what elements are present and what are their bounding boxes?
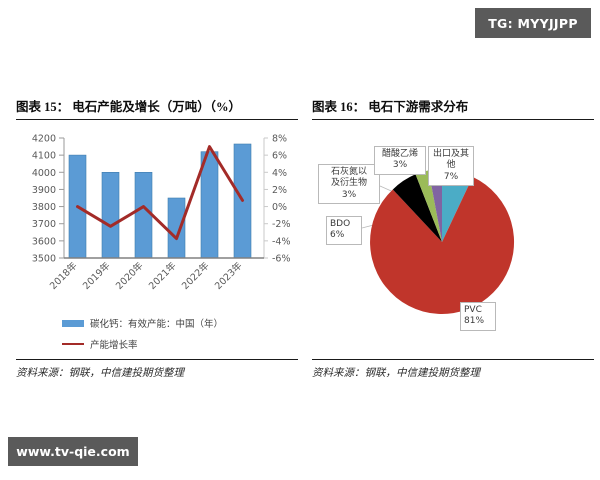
- svg-text:3600: 3600: [32, 236, 56, 247]
- svg-text:4000: 4000: [32, 168, 56, 179]
- axis-right-tick-labels: 8% 6% 4% 2% 0% -2% -4% -6%: [272, 134, 291, 265]
- svg-text:2%: 2%: [272, 185, 287, 196]
- bar-2021: [168, 198, 185, 258]
- svg-text:2023年: 2023年: [212, 259, 245, 292]
- legend-swatch-line-icon: [62, 343, 84, 346]
- axis-x-tick-labels: 2018年 2019年 2020年 2021年 2022年 2023年: [47, 259, 245, 292]
- pie-callout-bdo-line1: BDO: [330, 219, 358, 230]
- pie-callout-vac-value: 3%: [378, 160, 422, 171]
- svg-text:3500: 3500: [32, 254, 56, 265]
- pie-callout-vac-line1: 醋酸乙烯: [378, 149, 422, 160]
- document-page: TG: MYYJJPP 图表 15： 电石产能及增长（万吨）（%）: [0, 0, 600, 480]
- legend-label-growth: 产能增长率: [90, 337, 138, 351]
- svg-text:2021年: 2021年: [146, 259, 179, 292]
- chart-legend: 碳化钙：有效产能：中国（年） 产能增长率: [62, 316, 223, 358]
- legend-swatch-bar-icon: [62, 320, 84, 327]
- pie-callout-limestone-value: 3%: [322, 190, 376, 201]
- svg-text:8%: 8%: [272, 134, 287, 145]
- svg-text:4100: 4100: [32, 151, 56, 162]
- pie-callout-export: 出口及其 他 7%: [428, 146, 474, 186]
- svg-text:3700: 3700: [32, 219, 56, 230]
- bar-2020: [135, 172, 152, 258]
- capacity-growth-chart: 4200 4100 4000 3900 3800 3700 3600 3500 …: [16, 126, 298, 296]
- pie-callout-limestone-nitrogen: 石灰氮以 及衍生物 3%: [318, 164, 380, 204]
- legend-item-capacity: 碳化钙：有效产能：中国（年）: [62, 316, 223, 330]
- pie-callout-export-value: 7%: [432, 172, 470, 183]
- svg-text:3900: 3900: [32, 185, 56, 196]
- figure-15-source: 资料来源：钢联，中信建投期货整理: [16, 360, 298, 380]
- pie-callout-limestone-line2: 及衍生物: [322, 178, 376, 189]
- watermark-top-text: TG: MYYJJPP: [488, 16, 578, 31]
- pie-callout-pvc-line1: PVC: [464, 305, 492, 316]
- pie-callout-bdo-value: 6%: [330, 230, 358, 241]
- figure-15-body: 4200 4100 4000 3900 3800 3700 3600 3500 …: [16, 120, 298, 355]
- axis-left-tick-labels: 4200 4100 4000 3900 3800 3700 3600 3500: [32, 134, 56, 265]
- watermark-top-badge: TG: MYYJJPP: [475, 8, 591, 38]
- svg-text:2022年: 2022年: [179, 259, 212, 292]
- pie-callout-limestone-line1: 石灰氮以: [322, 167, 376, 178]
- svg-text:-2%: -2%: [272, 219, 291, 230]
- svg-text:6%: 6%: [272, 151, 287, 162]
- watermark-bottom-badge: www.tv-qie.com: [8, 437, 138, 466]
- watermark-bottom-text: www.tv-qie.com: [16, 444, 129, 459]
- figure-16-body: 石灰氮以 及衍生物 3% 醋酸乙烯 3% 出口及其 他 7% BDO 6%: [312, 120, 594, 355]
- capacity-bars: [69, 144, 251, 258]
- svg-text:0%: 0%: [272, 202, 287, 213]
- figure-15-title: 图表 15： 电石产能及增长（万吨）（%）: [16, 96, 298, 119]
- axis-left: [59, 138, 64, 258]
- figure-16-title: 图表 16： 电石下游需求分布: [312, 96, 594, 119]
- svg-text:-6%: -6%: [272, 254, 291, 265]
- svg-text:4200: 4200: [32, 134, 56, 145]
- svg-text:4%: 4%: [272, 168, 287, 179]
- pie-callout-export-line2: 他: [432, 160, 470, 171]
- svg-text:3800: 3800: [32, 202, 56, 213]
- pie-slices: [370, 170, 514, 314]
- pie-callout-vinyl-acetate: 醋酸乙烯 3%: [374, 146, 426, 175]
- axis-right: [264, 138, 268, 258]
- bar-2019: [102, 172, 119, 258]
- legend-item-growth: 产能增长率: [62, 337, 223, 351]
- pie-callout-pvc-value: 81%: [464, 316, 492, 327]
- legend-label-capacity: 碳化钙：有效产能：中国（年）: [90, 316, 223, 330]
- figure-panel-15: 图表 15： 电石产能及增长（万吨）（%）: [16, 96, 298, 380]
- downstream-demand-pie: 石灰氮以 及衍生物 3% 醋酸乙烯 3% 出口及其 他 7% BDO 6%: [312, 124, 594, 349]
- svg-text:2019年: 2019年: [80, 259, 113, 292]
- figure-16-source: 资料来源：钢联，中信建投期货整理: [312, 360, 594, 380]
- pie-callout-pvc: PVC 81%: [460, 302, 496, 331]
- figure-panel-16: 图表 16： 电石下游需求分布: [312, 96, 594, 380]
- capacity-growth-chart-svg: 4200 4100 4000 3900 3800 3700 3600 3500 …: [16, 126, 298, 296]
- bar-2022: [201, 152, 218, 258]
- svg-text:-4%: -4%: [272, 236, 291, 247]
- svg-text:2020年: 2020年: [113, 259, 146, 292]
- pie-callout-bdo: BDO 6%: [326, 216, 362, 245]
- pie-callout-export-line1: 出口及其: [432, 149, 470, 160]
